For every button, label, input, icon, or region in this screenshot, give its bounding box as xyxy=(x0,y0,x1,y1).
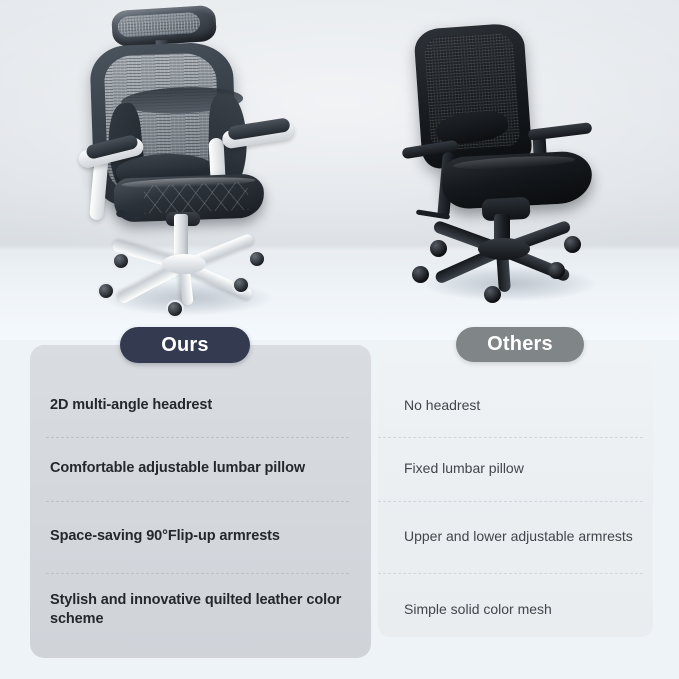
feature-text-others: No headrest xyxy=(404,396,480,415)
feature-text-ours: Stylish and innovative quilted leather c… xyxy=(50,591,345,630)
feature-row: 2D multi-angle headrest xyxy=(30,375,371,437)
caster-wheel xyxy=(232,276,250,294)
caster-wheel xyxy=(248,250,266,268)
badge-ours: Ours xyxy=(120,327,250,363)
feature-text-ours: Comfortable adjustable lumbar pillow xyxy=(50,459,305,478)
feature-row: Space-saving 90°Flip-up armrests xyxy=(30,501,371,573)
armrest-right xyxy=(528,122,593,141)
feature-row: Upper and lower adjustable armrests xyxy=(378,501,653,573)
headrest-mesh xyxy=(117,12,200,38)
caster-wheel xyxy=(484,286,501,303)
feature-row: No headrest xyxy=(378,375,653,437)
feature-text-ours: Space-saving 90°Flip-up armrests xyxy=(50,527,280,546)
caster-wheel xyxy=(166,300,184,318)
feature-text-others: Fixed lumbar pillow xyxy=(404,459,524,478)
feature-row: Simple solid color mesh xyxy=(378,573,653,647)
feature-text-others: Simple solid color mesh xyxy=(404,600,552,619)
base-hub xyxy=(162,254,206,274)
comparison-section: 2D multi-angle headrest Comfortable adju… xyxy=(0,340,679,679)
feature-text-others: Upper and lower adjustable armrests xyxy=(404,527,633,546)
badge-others: Others xyxy=(456,327,584,362)
caster-wheel xyxy=(412,266,429,283)
feature-row: Comfortable adjustable lumbar pillow xyxy=(30,437,371,501)
feature-text-ours: 2D multi-angle headrest xyxy=(50,396,212,415)
feature-row: Stylish and innovative quilted leather c… xyxy=(30,573,371,647)
seat-highlight xyxy=(453,154,575,171)
product-image-ours[interactable] xyxy=(70,4,300,314)
caster-wheel xyxy=(564,236,581,253)
product-image-others[interactable] xyxy=(400,26,625,321)
caster-wheel xyxy=(548,262,565,279)
feature-row: Fixed lumbar pillow xyxy=(378,437,653,501)
caster-wheel xyxy=(97,282,115,300)
caster-wheel xyxy=(430,240,447,257)
base-hub xyxy=(478,238,530,260)
caster-wheel xyxy=(112,252,130,270)
product-hero-area xyxy=(0,0,679,340)
